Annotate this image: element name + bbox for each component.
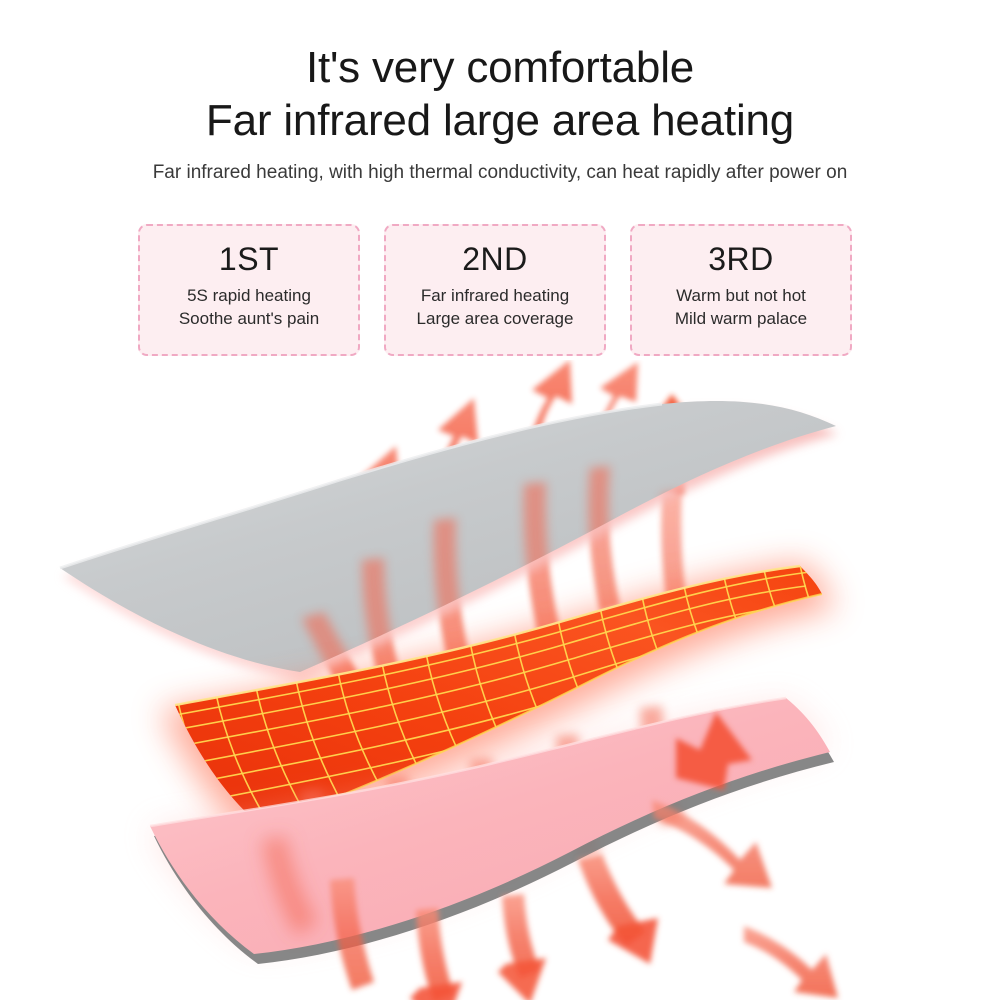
feature-desc-line-2: Large area coverage: [417, 307, 574, 330]
feature-desc-line-1: 5S rapid heating: [187, 284, 311, 307]
feature-rank-label: 3RD: [708, 240, 774, 278]
heating-layers-illustration: [0, 360, 1000, 1000]
feature-box-1st: 1ST 5S rapid heating Soothe aunt's pain: [138, 224, 360, 356]
infographic-page: It's very comfortable Far infrared large…: [0, 0, 1000, 1000]
feature-box-group: 1ST 5S rapid heating Soothe aunt's pain …: [138, 224, 852, 356]
feature-box-3rd: 3RD Warm but not hot Mild warm palace: [630, 224, 852, 356]
feature-desc-line-2: Mild warm palace: [675, 307, 807, 330]
feature-rank-label: 1ST: [219, 240, 279, 278]
heat-arrow-out-right-3: [744, 926, 838, 998]
page-subtitle: Far infrared heating, with high thermal …: [0, 160, 1000, 186]
feature-desc-line-1: Warm but not hot: [676, 284, 806, 307]
headline-line-1: It's very comfortable: [0, 42, 1000, 94]
feature-rank-label: 2ND: [462, 240, 528, 278]
heat-arrow-down-center: [498, 894, 546, 1000]
headline-line-2: Far infrared large area heating: [0, 94, 1000, 148]
heat-arrow-down-left-center: [410, 908, 462, 1000]
feature-desc-line-2: Soothe aunt's pain: [179, 307, 319, 330]
page-title: It's very comfortable Far infrared large…: [0, 42, 1000, 148]
feature-box-2nd: 2ND Far infrared heating Large area cove…: [384, 224, 606, 356]
heat-arrow-down-right-center: [578, 854, 658, 964]
heat-arrow-out-right-2: [652, 800, 772, 888]
feature-desc-line-1: Far infrared heating: [421, 284, 569, 307]
